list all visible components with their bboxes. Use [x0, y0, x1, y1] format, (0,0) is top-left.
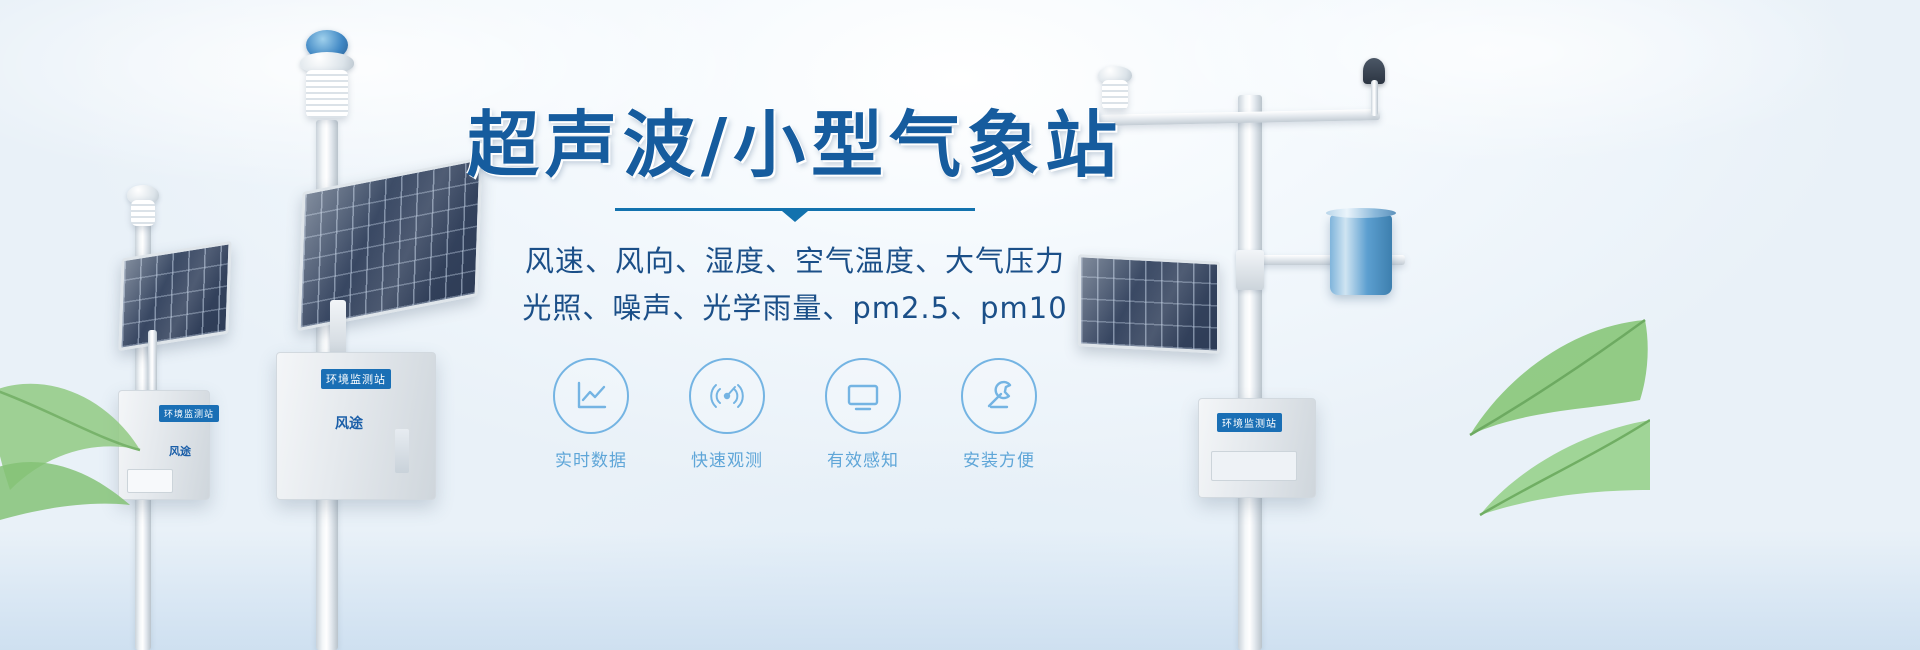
- cabinet-latch-large: [395, 429, 409, 473]
- cabinet-panel-right: [1211, 451, 1297, 481]
- panel-mount-large: [330, 300, 346, 360]
- leaf-right-decoration: [1400, 290, 1650, 520]
- line-chart-icon: [553, 358, 629, 434]
- radar-scan-icon: [689, 358, 765, 434]
- rain-gauge-right: [1330, 215, 1392, 295]
- ground-gradient: [0, 530, 1920, 650]
- feature-item-realtime-data[interactable]: 实时数据: [544, 358, 638, 471]
- leaf-left-decoration: [0, 330, 170, 520]
- product-banner: 环境监测站 风途 环境监测站 风途 环境监测站: [0, 0, 1920, 650]
- arm-clamp-right: [1236, 250, 1264, 290]
- feature-label-realtime-data: 实时数据: [544, 446, 638, 471]
- page-title: 超声波/小型气象站: [455, 105, 1135, 186]
- feature-item-easy-installation[interactable]: 安装方便: [952, 358, 1046, 471]
- antenna-stem-right: [1371, 80, 1378, 116]
- pole-right: [1238, 95, 1262, 650]
- monitor-icon: [825, 358, 901, 434]
- cabinet-large: 环境监测站 风途: [276, 352, 436, 500]
- feature-label-easy-installation: 安装方便: [952, 446, 1046, 471]
- radiation-shield-large: [306, 70, 348, 118]
- brand-label-small: 风途: [169, 443, 191, 459]
- cabinet-label-right: 环境监测站: [1217, 413, 1282, 432]
- feature-line-1: 风速、风向、湿度、空气温度、大气压力: [455, 238, 1135, 285]
- feature-label-fast-observation: 快速观测: [680, 446, 774, 471]
- brand-label-large: 风途: [335, 413, 363, 433]
- wrench-icon: [961, 358, 1037, 434]
- feature-label-effective-sensing: 有效感知: [816, 446, 910, 471]
- feature-line-2: 光照、噪声、光学雨量、pm2.5、pm10: [455, 285, 1135, 332]
- divider-triangle-icon: [782, 211, 808, 222]
- feature-item-fast-observation[interactable]: 快速观测: [680, 358, 774, 471]
- cabinet-right: 环境监测站: [1198, 398, 1316, 498]
- divider: [615, 204, 975, 218]
- cabinet-label-large: 环境监测站: [321, 369, 391, 389]
- feature-icon-row: 实时数据 快速观测: [455, 358, 1135, 471]
- radiation-shield-small: [131, 200, 155, 226]
- feature-item-effective-sensing[interactable]: 有效感知: [816, 358, 910, 471]
- banner-content: 超声波/小型气象站 风速、风向、湿度、空气温度、大气压力 光照、噪声、光学雨量、…: [455, 105, 1135, 471]
- feature-list: 风速、风向、湿度、空气温度、大气压力 光照、噪声、光学雨量、pm2.5、pm10: [455, 238, 1135, 332]
